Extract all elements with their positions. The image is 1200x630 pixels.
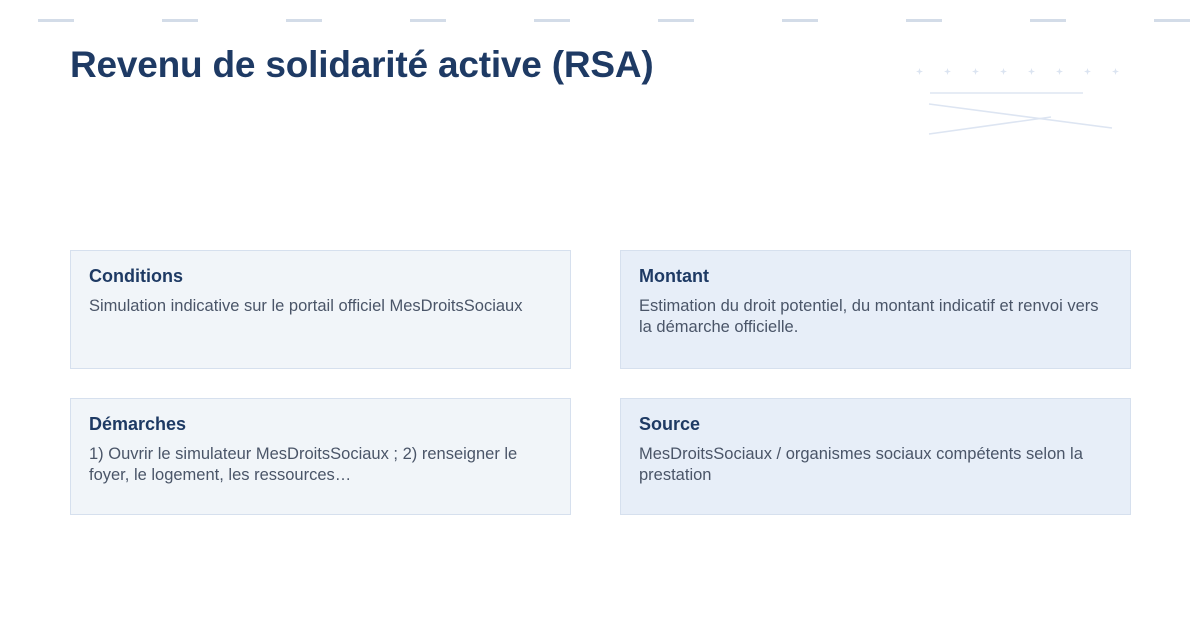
deco-diagonal-down [929, 104, 1112, 128]
dash-marks-icon [410, 19, 446, 22]
card-body: Simulation indicative sur le portail off… [89, 296, 552, 317]
dash-marks-icon [906, 19, 942, 22]
card-body: 1) Ouvrir le simulateur MesDroitsSociaux… [89, 444, 552, 487]
dash-marks-icon [534, 19, 570, 22]
card-body: MesDroitsSociaux / organismes sociaux co… [639, 444, 1112, 487]
dash-marks-icon [1030, 19, 1066, 22]
card-title: Conditions [89, 267, 552, 287]
dash-marks-icon [782, 19, 818, 22]
deco-diagonal-up [929, 117, 1051, 134]
abstract-lines-dots-graphic [905, 55, 1150, 145]
card-body: Estimation du droit potentiel, du montan… [639, 296, 1112, 339]
card-source: Source MesDroitsSociaux / organismes soc… [620, 398, 1131, 515]
dash-marks-icon [658, 19, 694, 22]
dash-marks-icon [286, 19, 322, 22]
deco-lines-icon [905, 55, 1150, 145]
dash-marks-icon [1154, 19, 1190, 22]
top-dash-row [0, 0, 1200, 30]
slide-canvas: Revenu de solidarité active (RSA) Condit… [0, 0, 1200, 630]
dash-marks-icon [38, 19, 74, 22]
card-demarches: Démarches 1) Ouvrir le simulateur MesDro… [70, 398, 571, 515]
card-title: Montant [639, 267, 1112, 287]
card-conditions: Conditions Simulation indicative sur le … [70, 250, 571, 369]
dash-marks-icon [162, 19, 198, 22]
card-title: Démarches [89, 415, 552, 435]
card-title: Source [639, 415, 1112, 435]
card-montant: Montant Estimation du droit potentiel, d… [620, 250, 1131, 369]
page-title: Revenu de solidarité active (RSA) [70, 44, 654, 86]
